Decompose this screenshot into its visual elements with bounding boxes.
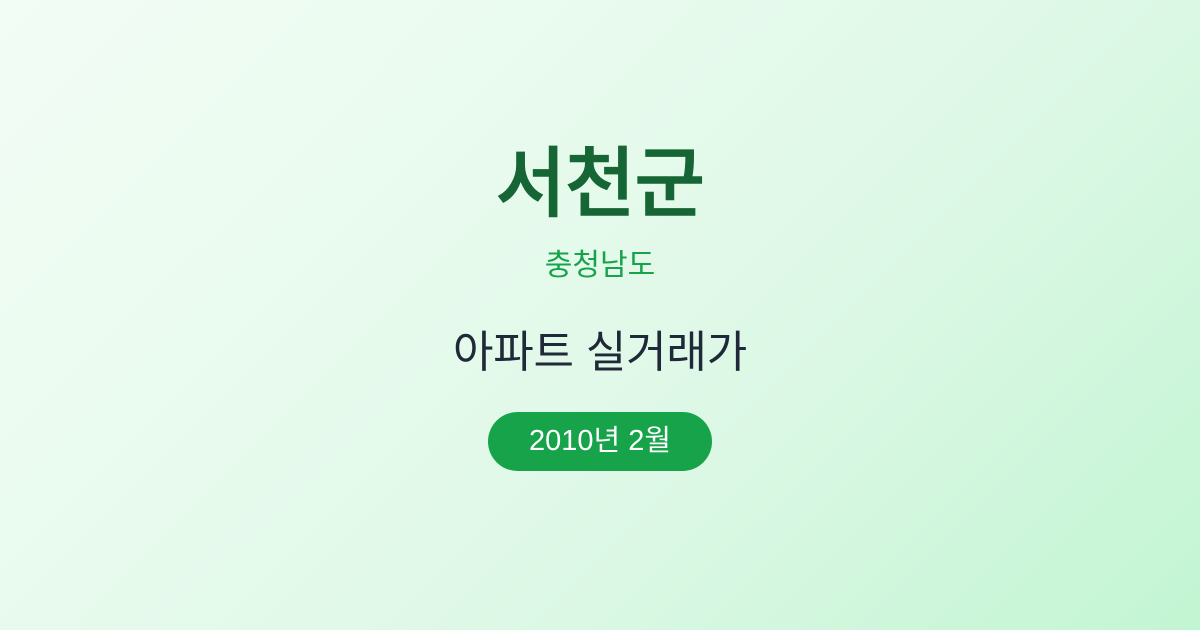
region-name: 서천군 <box>496 145 704 225</box>
og-card: 서천군 충청남도 아파트 실거래가 2010년 2월 <box>0 0 1200 630</box>
card-content-stack: 서천군 충청남도 아파트 실거래가 2010년 2월 <box>0 145 1200 472</box>
period-badge: 2010년 2월 <box>488 412 712 471</box>
dataset-title: 아파트 실거래가 <box>453 327 747 380</box>
province-name: 충청남도 <box>545 248 655 284</box>
